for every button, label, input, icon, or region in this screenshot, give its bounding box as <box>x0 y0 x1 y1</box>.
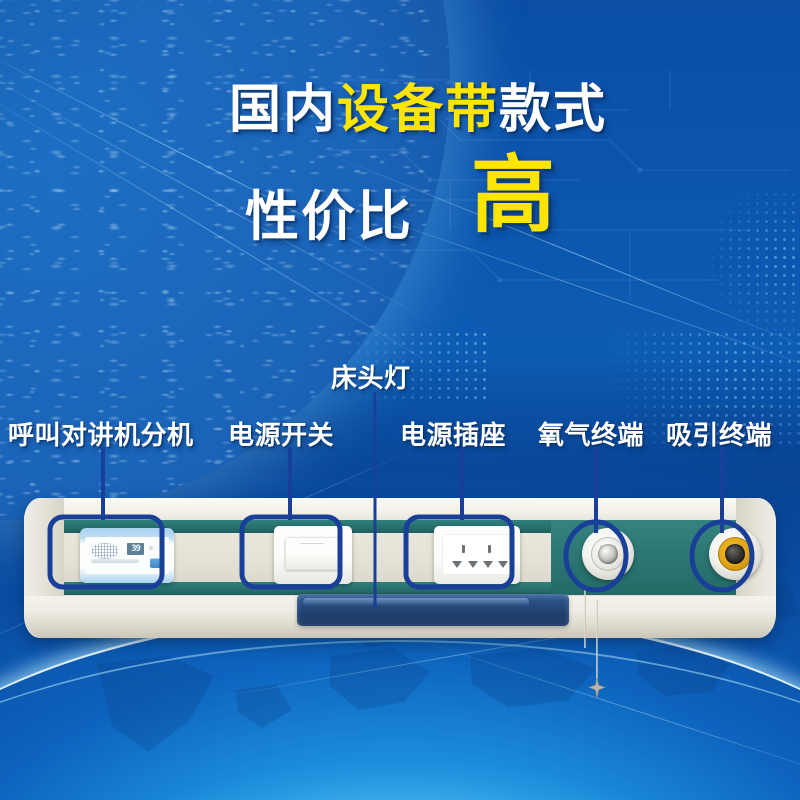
socket-pin-tri-2 <box>468 561 478 568</box>
callout-label-power-switch: 电源开关 <box>228 415 334 452</box>
callout-label-suction-terminal: 吸引终端 <box>666 415 772 452</box>
intercom-display: 39 <box>127 543 144 555</box>
socket-pin-tri-4 <box>498 561 508 568</box>
pull-cord-suction[interactable] <box>596 600 598 688</box>
suction-gas-terminal[interactable]: VACUUM <box>709 528 761 580</box>
oxygen-terminal-port[interactable] <box>598 544 618 564</box>
callout-label-oxygen-terminal: 氧气终端 <box>538 415 644 452</box>
callout-label-bed-lamp: 床头灯 <box>331 358 411 395</box>
pull-cord-handle[interactable] <box>588 678 606 698</box>
switch-rocker[interactable] <box>285 537 339 570</box>
bed-head-lamp-strip[interactable] <box>297 594 569 626</box>
pull-cord-oxygen[interactable] <box>584 590 586 648</box>
intercom-face: 39 <box>85 537 169 574</box>
oxygen-gas-terminal[interactable]: OXYGEN <box>582 528 634 580</box>
universal-power-socket[interactable] <box>434 526 520 584</box>
lamp-gloss-highlight <box>303 598 529 606</box>
speaker-grille-icon <box>92 543 118 559</box>
nurse-call-intercom-unit[interactable]: 39 <box>80 528 174 583</box>
suction-terminal-port[interactable] <box>725 544 745 564</box>
socket-pin-tri-3 <box>483 561 493 568</box>
callout-label-power-socket: 电源插座 <box>400 415 506 452</box>
callout-label-nurse-call-intercom: 呼叫对讲机分机 <box>8 415 194 452</box>
intercom-slot <box>91 559 139 563</box>
socket-pin-tri-1 <box>452 561 462 568</box>
wall-rocker-switch[interactable] <box>274 526 352 584</box>
socket-pin-live-right <box>488 545 491 553</box>
socket-pin-live-left <box>462 545 465 553</box>
callout-labels: 呼叫对讲机分机 电源开关 床头灯 电源插座 氧气终端 吸引终端 <box>0 0 800 800</box>
intercom-led-icon <box>149 546 153 550</box>
bed-head-panel-body: 39 <box>24 498 776 638</box>
bed-head-unit: 39 <box>24 498 776 638</box>
socket-face <box>442 534 512 575</box>
promo-banner: 国内设备带款式 性价比 高 呼叫对讲机分机 电源开关 床头灯 电源插座 氧气终端… <box>0 0 800 800</box>
intercom-call-button[interactable] <box>150 558 163 568</box>
